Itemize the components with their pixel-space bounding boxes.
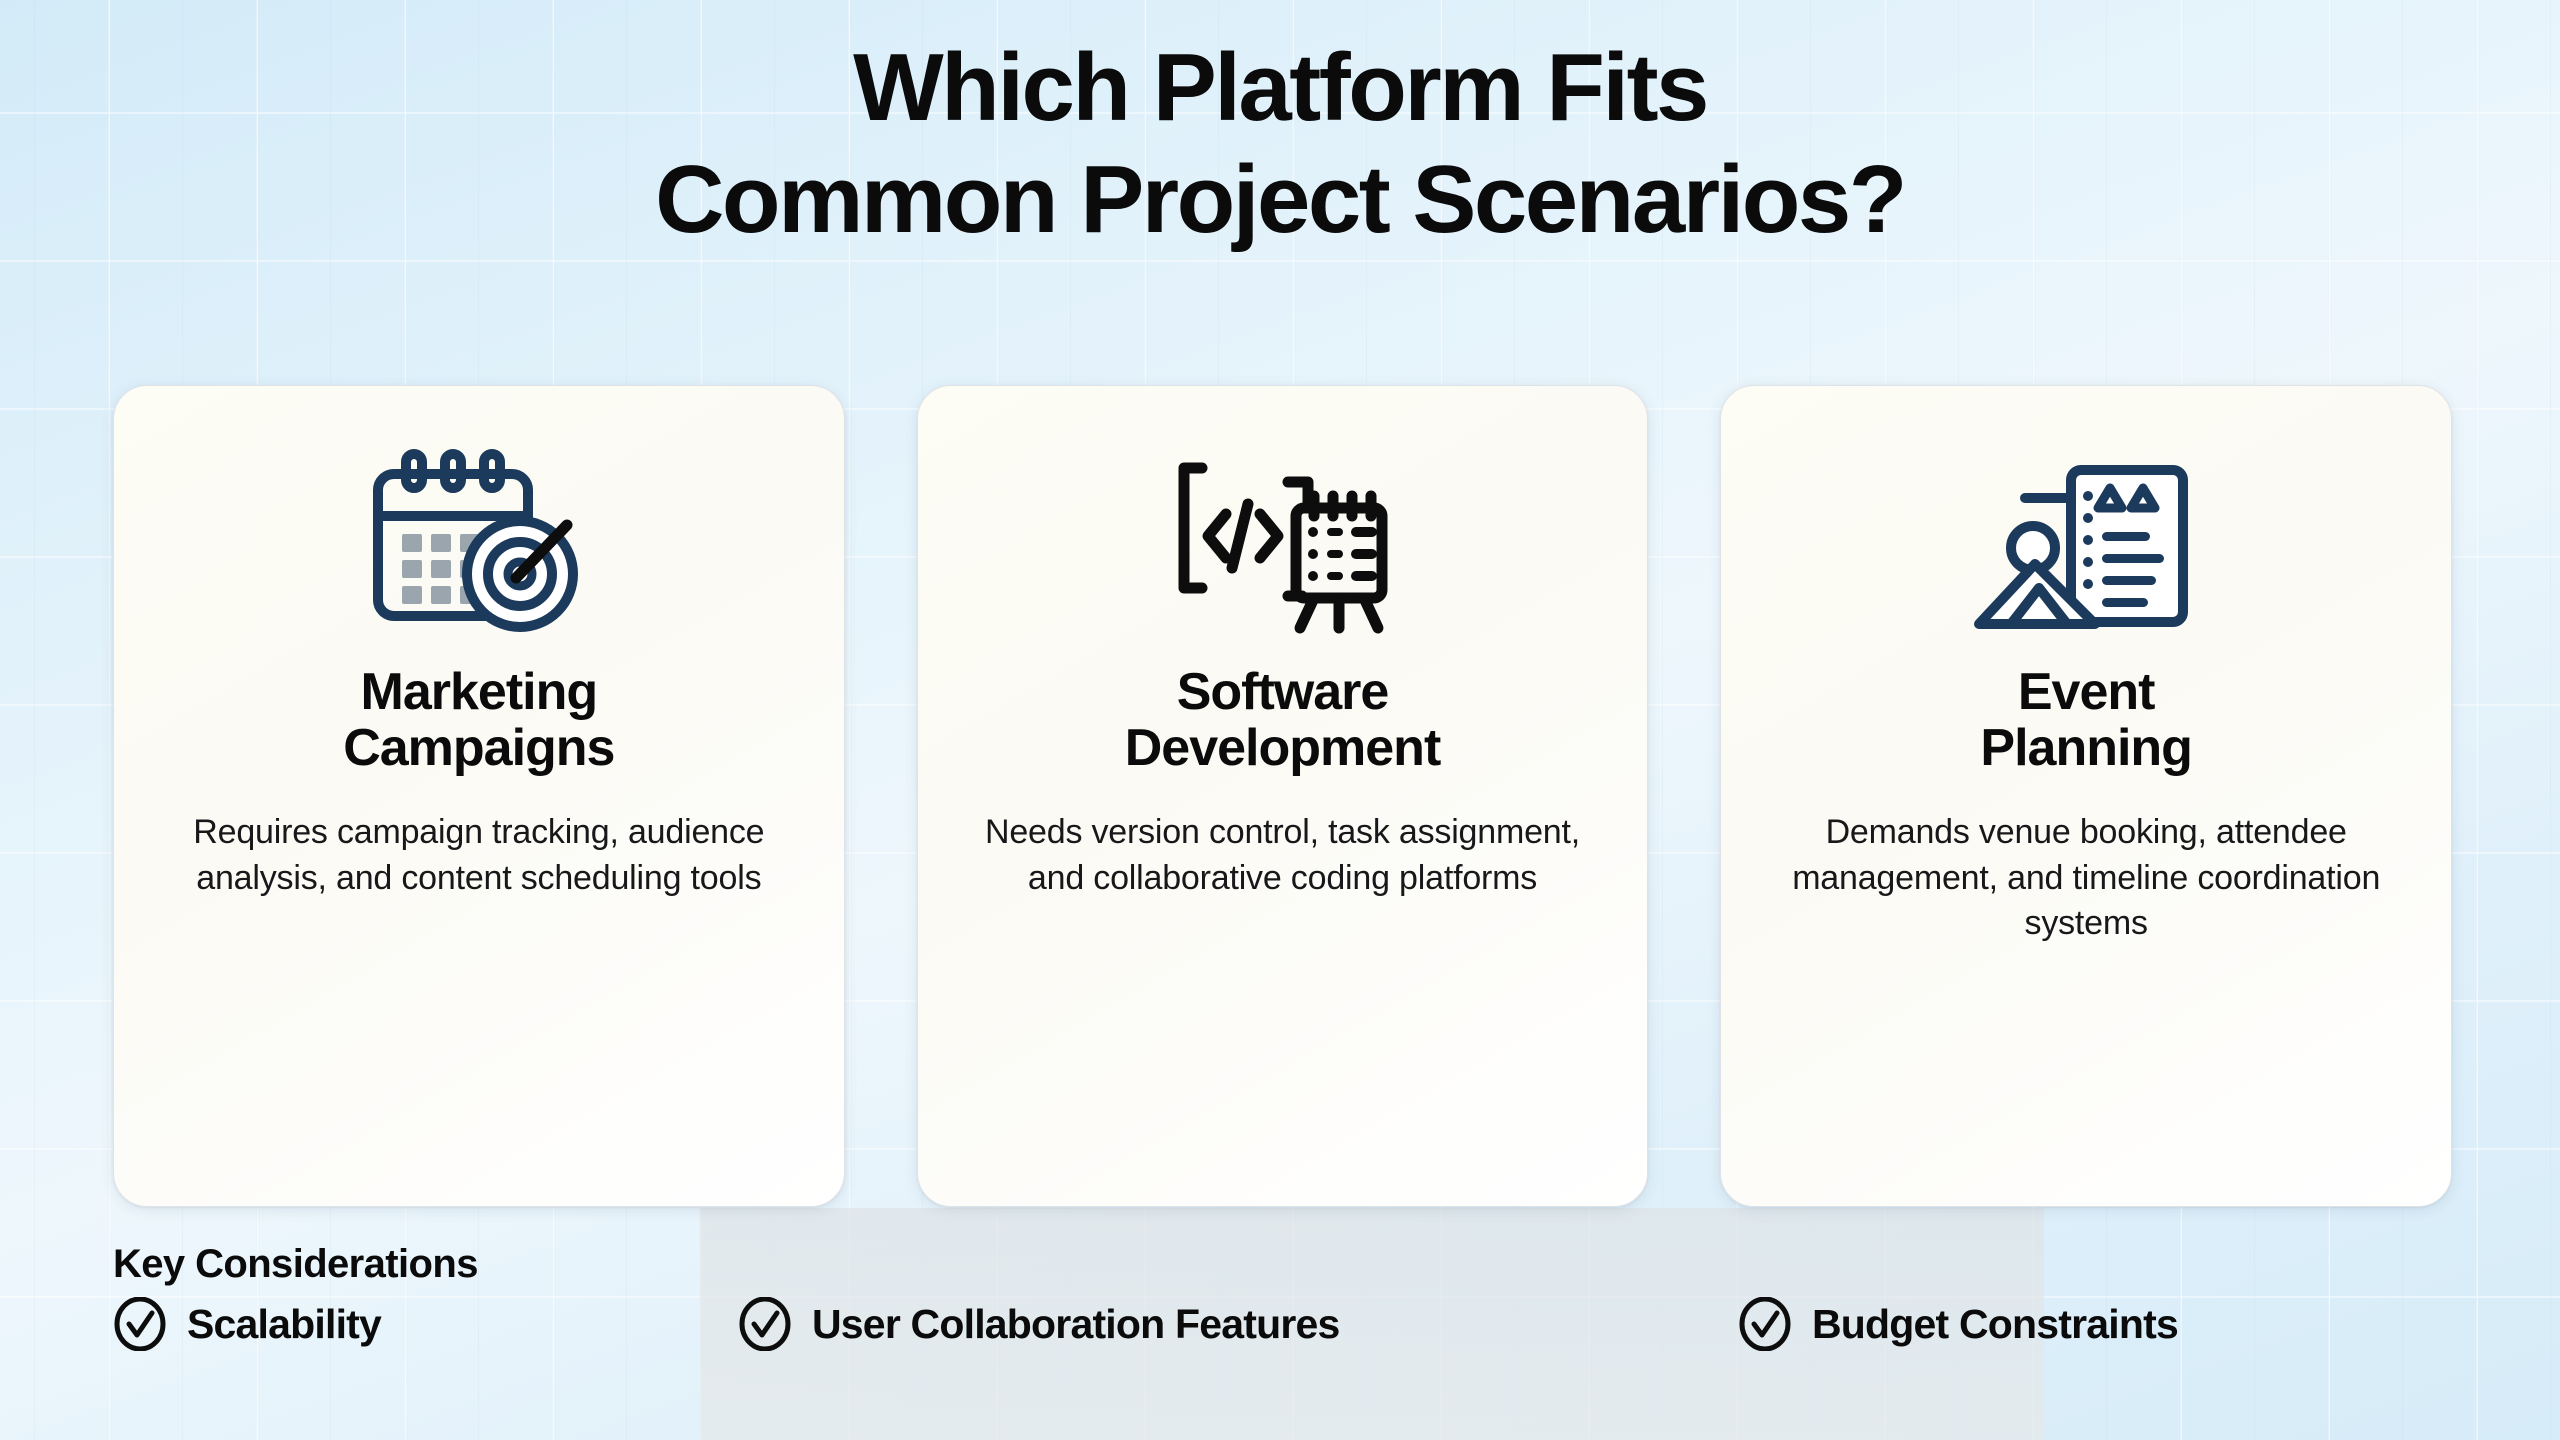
key-considerations-row: Scalability User Collaboration Features … (113, 1297, 2452, 1351)
key-consideration-item-user-collaboration-features[interactable]: User Collaboration Features (738, 1297, 1738, 1351)
scenario-card-title-line-1: Software (1177, 663, 1389, 721)
calendar-target-icon (364, 446, 594, 636)
key-considerations-heading: Key Considerations (113, 1242, 2452, 1287)
page-title-line-1: Which Platform Fits (0, 40, 2560, 136)
key-considerations-section: Key Considerations Scalability User Coll… (113, 1242, 2452, 1351)
scenario-card-title: Marketing Campaigns (343, 664, 614, 776)
scenario-card-software-development[interactable]: Software Development Needs version contr… (917, 385, 1649, 1207)
scenario-card-list: Marketing Campaigns Requires campaign tr… (113, 385, 2452, 1207)
key-consideration-item-scalability[interactable]: Scalability (113, 1297, 738, 1351)
key-consideration-item-budget-constraints[interactable]: Budget Constraints (1738, 1297, 2178, 1351)
presenter-checklist-icon (1971, 446, 2201, 636)
scenario-card-marketing-campaigns[interactable]: Marketing Campaigns Requires campaign tr… (113, 385, 845, 1207)
scenario-card-title-line-1: Event (2018, 663, 2155, 721)
scenario-card-description: Needs version control, task assignment, … (963, 810, 1603, 900)
key-consideration-label: Scalability (187, 1301, 381, 1348)
page-title-line-2: Common Project Scenarios? (0, 152, 2560, 248)
page-title: Which Platform Fits Common Project Scena… (0, 40, 2560, 248)
code-flipchart-icon (1168, 446, 1398, 636)
key-consideration-label: Budget Constraints (1812, 1301, 2178, 1348)
scenario-card-title: Event Planning (1980, 664, 2192, 776)
check-circle-icon (738, 1297, 792, 1351)
scenario-card-description: Requires campaign tracking, audience ana… (159, 810, 799, 900)
check-circle-icon (1738, 1297, 1792, 1351)
scenario-card-title-line-1: Marketing (361, 663, 598, 721)
scenario-card-description: Demands venue booking, attendee manageme… (1766, 810, 2406, 946)
scenario-card-title-line-2: Planning (1980, 719, 2192, 777)
scenario-card-event-planning[interactable]: Event Planning Demands venue booking, at… (1720, 385, 2452, 1207)
scenario-card-title: Software Development (1125, 664, 1441, 776)
scenario-card-title-line-2: Campaigns (343, 719, 614, 777)
key-consideration-label: User Collaboration Features (812, 1301, 1339, 1348)
scenario-card-title-line-2: Development (1125, 719, 1441, 777)
check-circle-icon (113, 1297, 167, 1351)
